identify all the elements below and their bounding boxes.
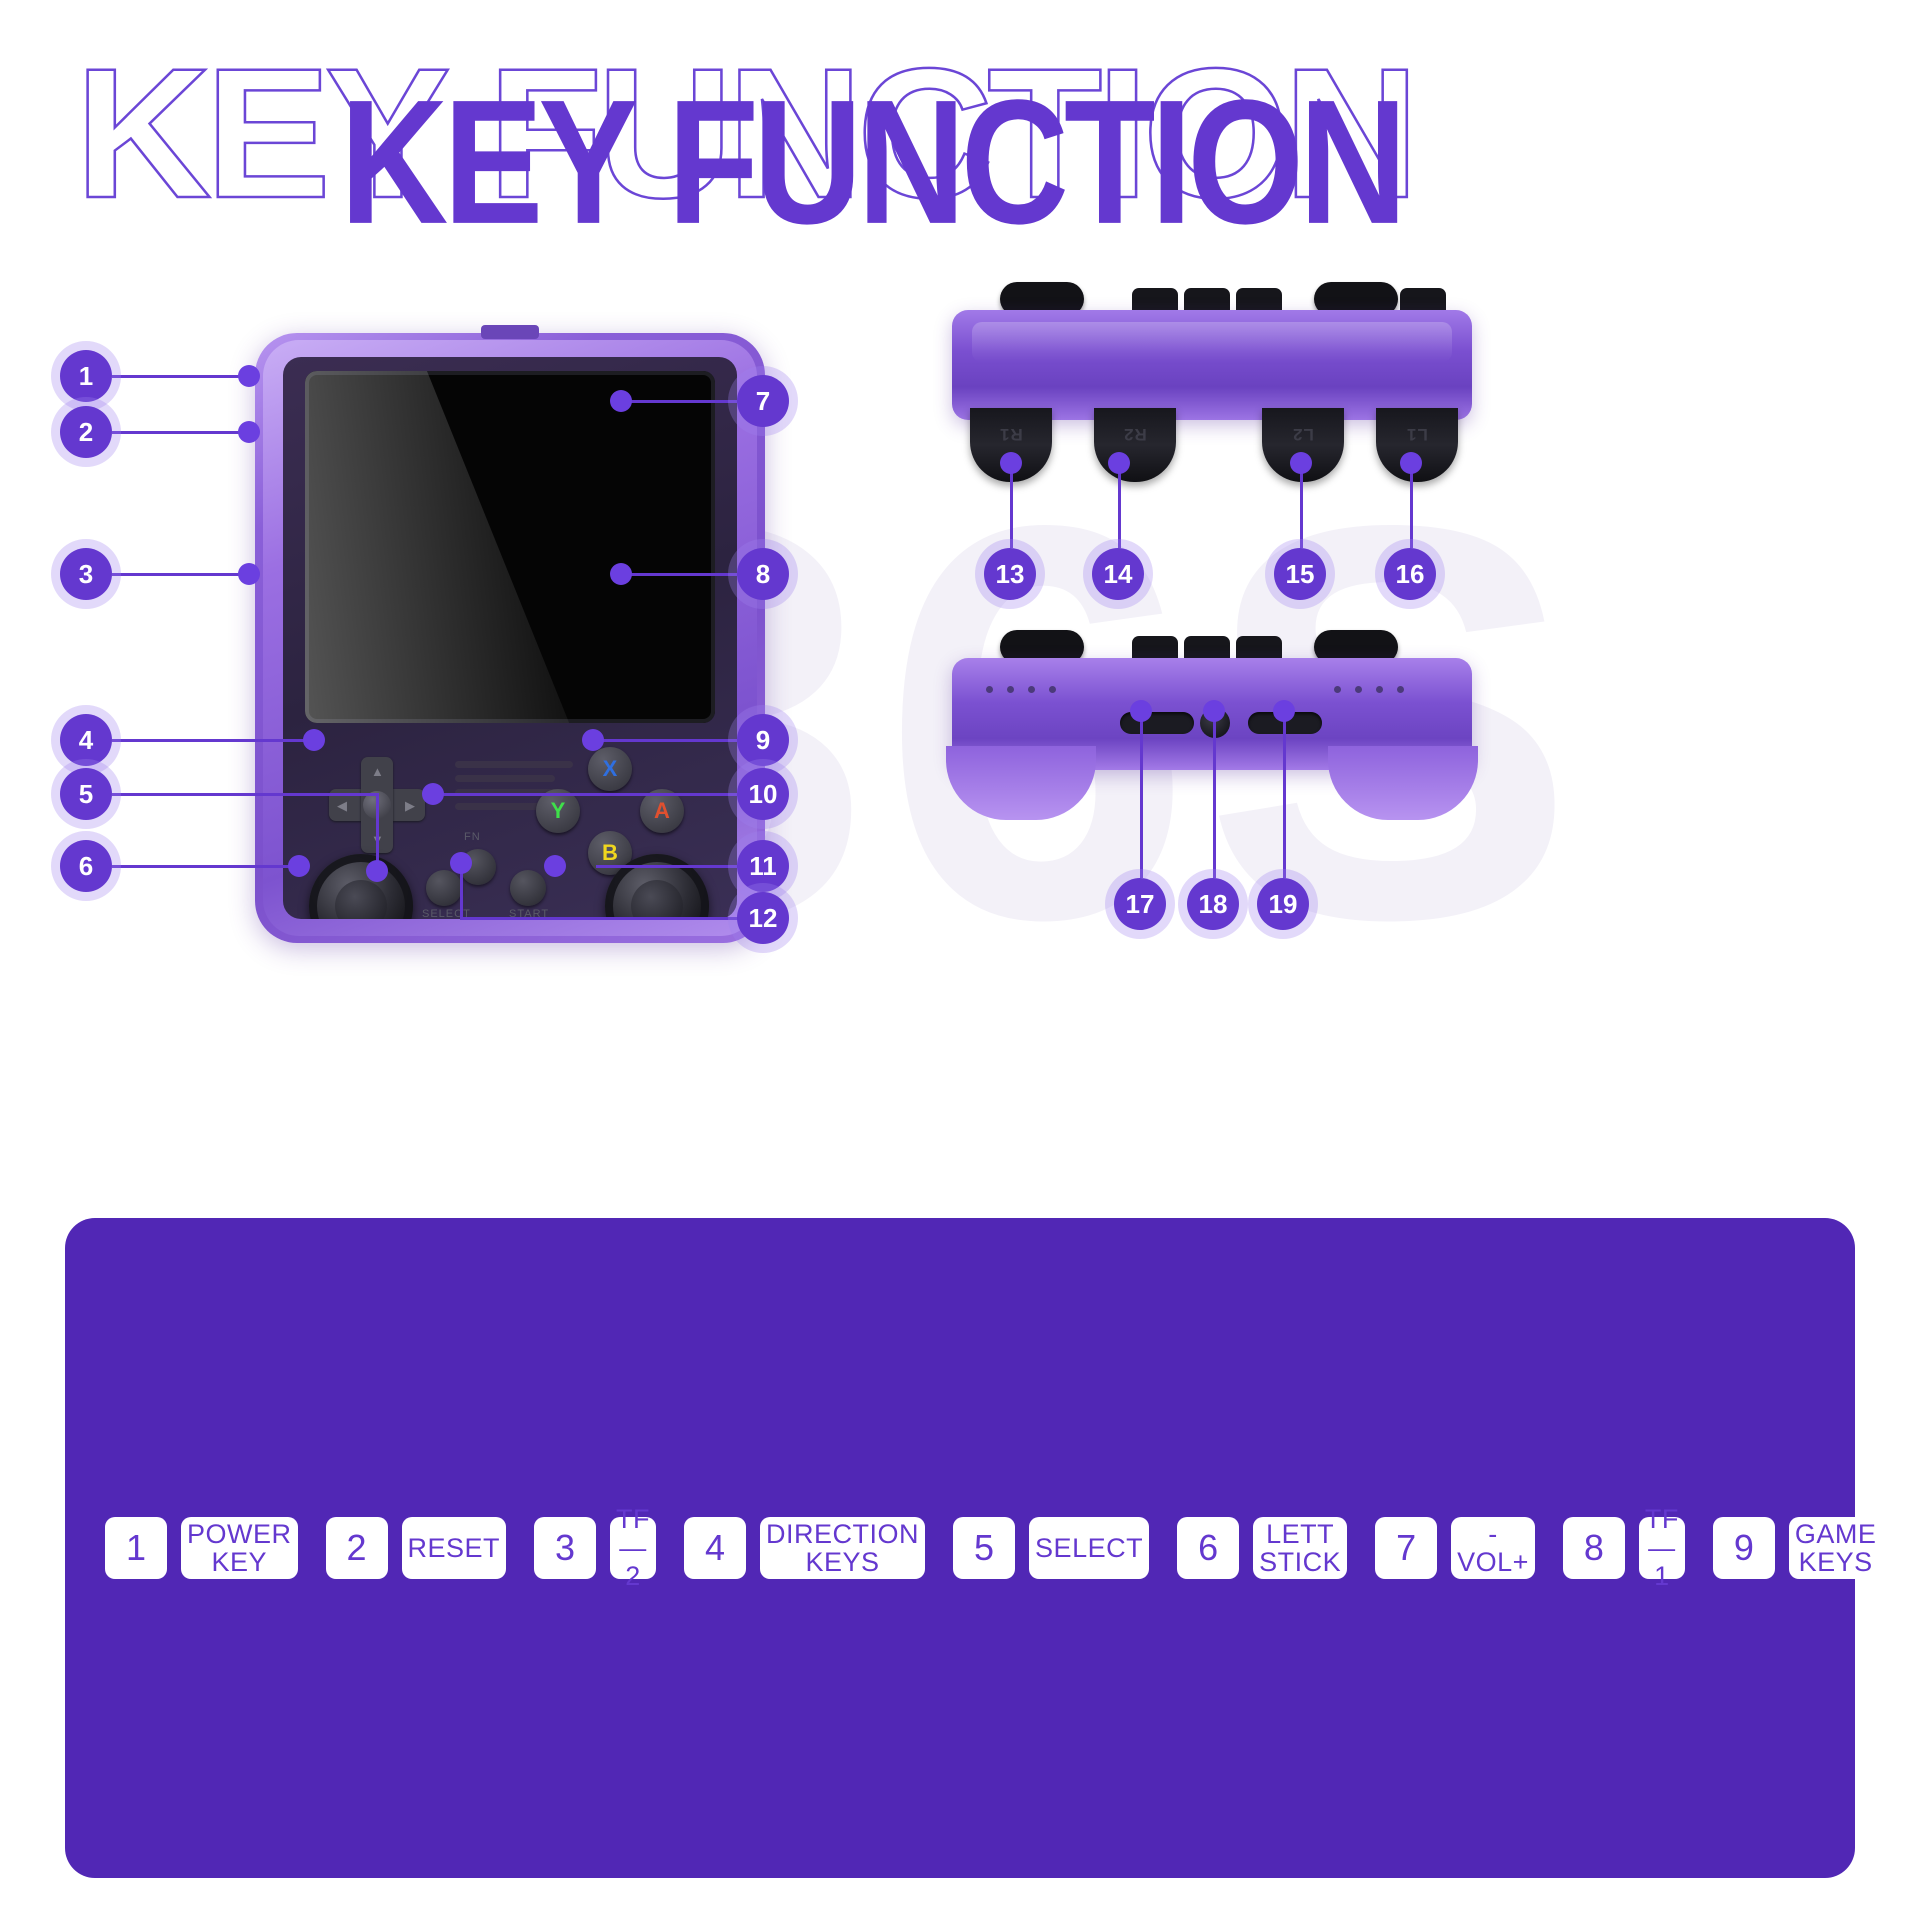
legend-number: 2 [326,1517,388,1579]
callout-line-5a [112,793,378,796]
game-key-a-label: A [654,798,670,824]
callout-badge-10[interactable]: 10 [737,768,789,820]
callout-dot-9 [582,729,604,751]
callout-dot-4 [303,729,325,751]
callout-dot-1 [238,365,260,387]
callout-dot-14 [1108,452,1130,474]
callout-badge-11[interactable]: 11 [737,840,789,892]
legend-number: 1 [105,1517,167,1579]
legend-row: 5SELECT [953,1262,1149,1834]
legend-row: 9GAME KEYS [1713,1262,1883,1834]
callout-badge-12[interactable]: 12 [737,892,789,944]
key-function-legend: 1POWER KEY2RESET3TF—24DIRECTION KEYS5SEL… [65,1218,1855,1878]
left-stick[interactable] [309,854,413,919]
callout-line-16 [1410,468,1413,548]
callout-line-7 [620,400,742,403]
legend-number: 4 [684,1517,746,1579]
legend-number: 5 [953,1517,1015,1579]
legend-number: 7 [1375,1517,1437,1579]
legend-label: LETT STICK [1253,1517,1347,1579]
trigger-l1-label: L1 [1406,424,1428,444]
callout-line-8 [620,573,742,576]
callout-line-12a [460,917,742,920]
bottom-vent-right [1334,686,1404,693]
legend-row: 7-VOL+ [1375,1262,1535,1834]
callout-line-18 [1213,716,1216,878]
callout-badge-8[interactable]: 8 [737,548,789,600]
callout-line-19 [1283,716,1286,878]
callout-dot-8 [610,563,632,585]
handheld-front-view: ▲ ▼ ◀ ▶ X Y A B FN SELECT START [255,333,765,943]
callout-line-15 [1300,468,1303,548]
callout-line-11 [596,865,742,868]
legend-row: 6LETT STICK [1177,1262,1347,1834]
callout-dot-12 [450,852,472,874]
legend-label: GAME KEYS [1789,1517,1883,1579]
legend-label: TF—2 [610,1517,656,1579]
legend-label: -VOL+ [1451,1517,1535,1579]
callout-line-10 [432,793,742,796]
callout-dot-18 [1203,700,1225,722]
bottom-grip-left [946,746,1096,820]
page-title: KEY FUNCTION [340,60,1402,264]
callout-dot-11 [544,855,566,877]
trigger-r2[interactable]: R2 [1094,408,1176,482]
callout-line-6 [112,865,294,868]
legend-number: 3 [534,1517,596,1579]
callout-line-2 [112,431,244,434]
callout-dot-13 [1000,452,1022,474]
callout-line-3 [112,573,244,576]
callout-dot-2 [238,421,260,443]
legend-number: 8 [1563,1517,1625,1579]
callout-badge-19[interactable]: 19 [1257,878,1309,930]
callout-dot-16 [1400,452,1422,474]
select-button[interactable] [426,870,462,906]
callout-badge-18[interactable]: 18 [1187,878,1239,930]
legend-label: POWER KEY [181,1517,298,1579]
dpad-right-arrow-icon: ▶ [405,799,415,812]
dpad-left-arrow-icon: ◀ [337,799,347,812]
bottom-vent-left [986,686,1056,693]
callout-dot-15 [1290,452,1312,474]
callout-dot-17 [1130,700,1152,722]
trigger-r1-label: R1 [999,424,1023,444]
callout-badge-5[interactable]: 5 [60,768,112,820]
game-key-y-label: Y [551,798,566,824]
callout-badge-7[interactable]: 7 [737,375,789,427]
callout-line-5b [376,793,379,870]
callout-line-1 [112,375,244,378]
callout-dot-5 [366,860,388,882]
callout-line-14 [1118,468,1121,548]
legend-label: TF—1 [1639,1517,1685,1579]
legend-row: 8TF—1 [1563,1262,1685,1834]
page-title-area: KEY FUNCTION KEY FUNCTION [0,0,1920,240]
game-key-x[interactable]: X [588,747,632,791]
legend-row: 1POWER KEY [105,1262,298,1834]
legend-number: 9 [1713,1517,1775,1579]
game-key-b-label: B [602,840,618,866]
callout-line-4 [112,739,310,742]
legend-row: 4DIRECTION KEYS [684,1262,925,1834]
start-button[interactable] [510,870,546,906]
callout-badge-6[interactable]: 6 [60,840,112,892]
callout-line-17 [1140,716,1143,878]
callout-badge-2[interactable]: 2 [60,406,112,458]
callout-badge-9[interactable]: 9 [737,714,789,766]
callout-dot-6 [288,855,310,877]
handheld-bottom-view [952,630,1472,820]
trigger-r2-label: R2 [1123,424,1147,444]
legend-number: 10 [1910,1517,1920,1579]
legend-label: RESET [402,1517,507,1579]
callout-line-9 [592,739,742,742]
legend-row: 3TF—2 [534,1262,656,1834]
callout-dot-19 [1273,700,1295,722]
fn-key-label: FN [464,831,481,843]
top-shell [952,310,1472,420]
device-screen [305,371,715,723]
callout-line-13 [1010,468,1013,548]
callout-dot-3 [238,563,260,585]
handheld-top-view: R1 R2 L2 L1 [952,282,1472,492]
legend-row: 10FN KEY [1910,1262,1920,1834]
callout-badge-13[interactable]: 13 [984,548,1036,600]
callout-badge-15[interactable]: 15 [1274,548,1326,600]
game-key-x-label: X [603,756,618,782]
dpad-up-arrow-icon: ▲ [371,765,384,778]
callout-badge-14[interactable]: 14 [1092,548,1144,600]
trigger-l2-label: L2 [1292,424,1314,444]
callout-dot-7 [610,390,632,412]
callout-badge-17[interactable]: 17 [1114,878,1166,930]
callout-badge-3[interactable]: 3 [60,548,112,600]
legend-row: 2RESET [326,1262,507,1834]
legend-number: 6 [1177,1517,1239,1579]
callout-badge-1[interactable]: 1 [60,350,112,402]
callout-badge-16[interactable]: 16 [1384,548,1436,600]
device-notch [481,325,539,339]
legend-label: SELECT [1029,1517,1149,1579]
callout-dot-10 [422,783,444,805]
callout-badge-4[interactable]: 4 [60,714,112,766]
bottom-grip-right [1328,746,1478,820]
legend-label: DIRECTION KEYS [760,1517,925,1579]
device-front-panel: ▲ ▼ ◀ ▶ X Y A B FN SELECT START [283,357,737,919]
